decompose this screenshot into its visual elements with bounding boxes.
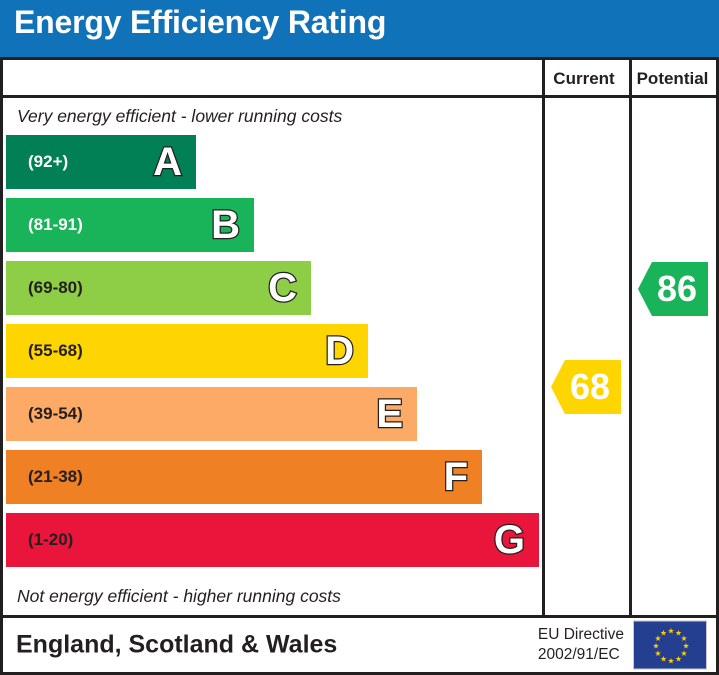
energy-efficiency-rating-certificate: Energy Efficiency Rating Current Potenti… (0, 0, 719, 675)
column-header-row: Current Potential (3, 60, 716, 98)
band-c-range: (69-80) (28, 278, 83, 298)
band-c: (69-80) C (6, 261, 311, 315)
caption-very-efficient: Very energy efficient - lower running co… (3, 98, 542, 135)
footer-region-label: England, Scotland & Wales (16, 631, 337, 660)
band-a-letter: A (153, 142, 182, 182)
eu-flag-stars (634, 622, 708, 671)
column-separator-1 (542, 60, 545, 615)
band-g-range: (1-20) (28, 530, 73, 550)
eu-directive-label: EU Directive 2002/91/EC (538, 625, 624, 665)
eu-directive-line-1: EU Directive (538, 625, 624, 645)
eu-flag-icon (633, 621, 707, 670)
column-separator-2 (629, 60, 632, 615)
band-a: (92+) A (6, 135, 196, 189)
band-d-range: (55-68) (28, 341, 83, 361)
current-rating-arrow: 68 (551, 360, 621, 414)
page-title: Energy Efficiency Rating (14, 4, 386, 41)
rating-bands: (92+) A (81-91) B (69-80) C (55-68) D (3… (3, 135, 542, 578)
band-e-range: (39-54) (28, 404, 83, 424)
band-d: (55-68) D (6, 324, 368, 378)
title-bar: Energy Efficiency Rating (0, 0, 719, 57)
chart-frame: Current Potential Very energy efficient … (0, 57, 719, 618)
band-g-letter: G (494, 520, 525, 560)
band-c-letter: C (268, 268, 297, 308)
column-header-current: Current (542, 60, 626, 98)
band-g: (1-20) G (6, 513, 539, 567)
potential-rating-arrow: 86 (638, 262, 708, 316)
band-e: (39-54) E (6, 387, 417, 441)
column-header-potential: Potential (629, 60, 716, 98)
band-b-letter: B (211, 205, 240, 245)
band-f-range: (21-38) (28, 467, 83, 487)
band-f: (21-38) F (6, 450, 482, 504)
band-d-letter: D (325, 331, 354, 371)
caption-not-efficient: Not energy efficient - higher running co… (3, 578, 542, 615)
band-a-range: (92+) (28, 152, 68, 172)
current-rating-value: 68 (570, 369, 610, 405)
potential-rating-value: 86 (657, 271, 697, 307)
eu-directive-line-2: 2002/91/EC (538, 645, 624, 665)
footer-bar: England, Scotland & Wales EU Directive 2… (0, 615, 719, 675)
band-b-range: (81-91) (28, 215, 83, 235)
band-f-letter: F (444, 457, 468, 497)
band-e-letter: E (376, 394, 403, 434)
band-b: (81-91) B (6, 198, 254, 252)
